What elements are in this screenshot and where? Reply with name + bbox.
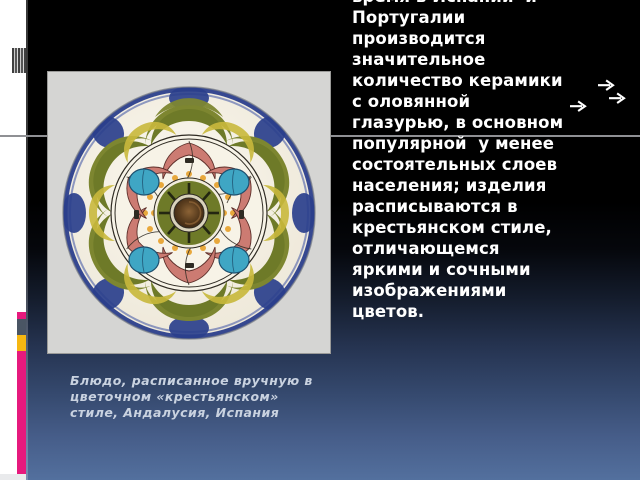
body-paragraph: время в Испании и Португалии производитс… bbox=[352, 0, 568, 322]
ceramic-plate-image bbox=[58, 82, 320, 344]
arrow-right-icon bbox=[570, 100, 587, 113]
plate-photo-frame bbox=[48, 72, 330, 353]
arrow-right-icon bbox=[598, 79, 615, 92]
left-rail-foot bbox=[0, 474, 26, 480]
image-caption: Блюдо, расписанное вручную в цветочном «… bbox=[70, 373, 315, 421]
arrow-right-icon bbox=[609, 92, 626, 105]
left-rail-edge-highlight bbox=[26, 0, 28, 480]
slide-canvas: время в Испании и Португалии производитс… bbox=[0, 0, 640, 480]
left-rail-yellow-block bbox=[17, 335, 26, 351]
decorative-stripes-icon bbox=[12, 48, 26, 73]
arrow-cluster bbox=[568, 78, 630, 122]
left-rail-slate-block bbox=[17, 319, 26, 335]
